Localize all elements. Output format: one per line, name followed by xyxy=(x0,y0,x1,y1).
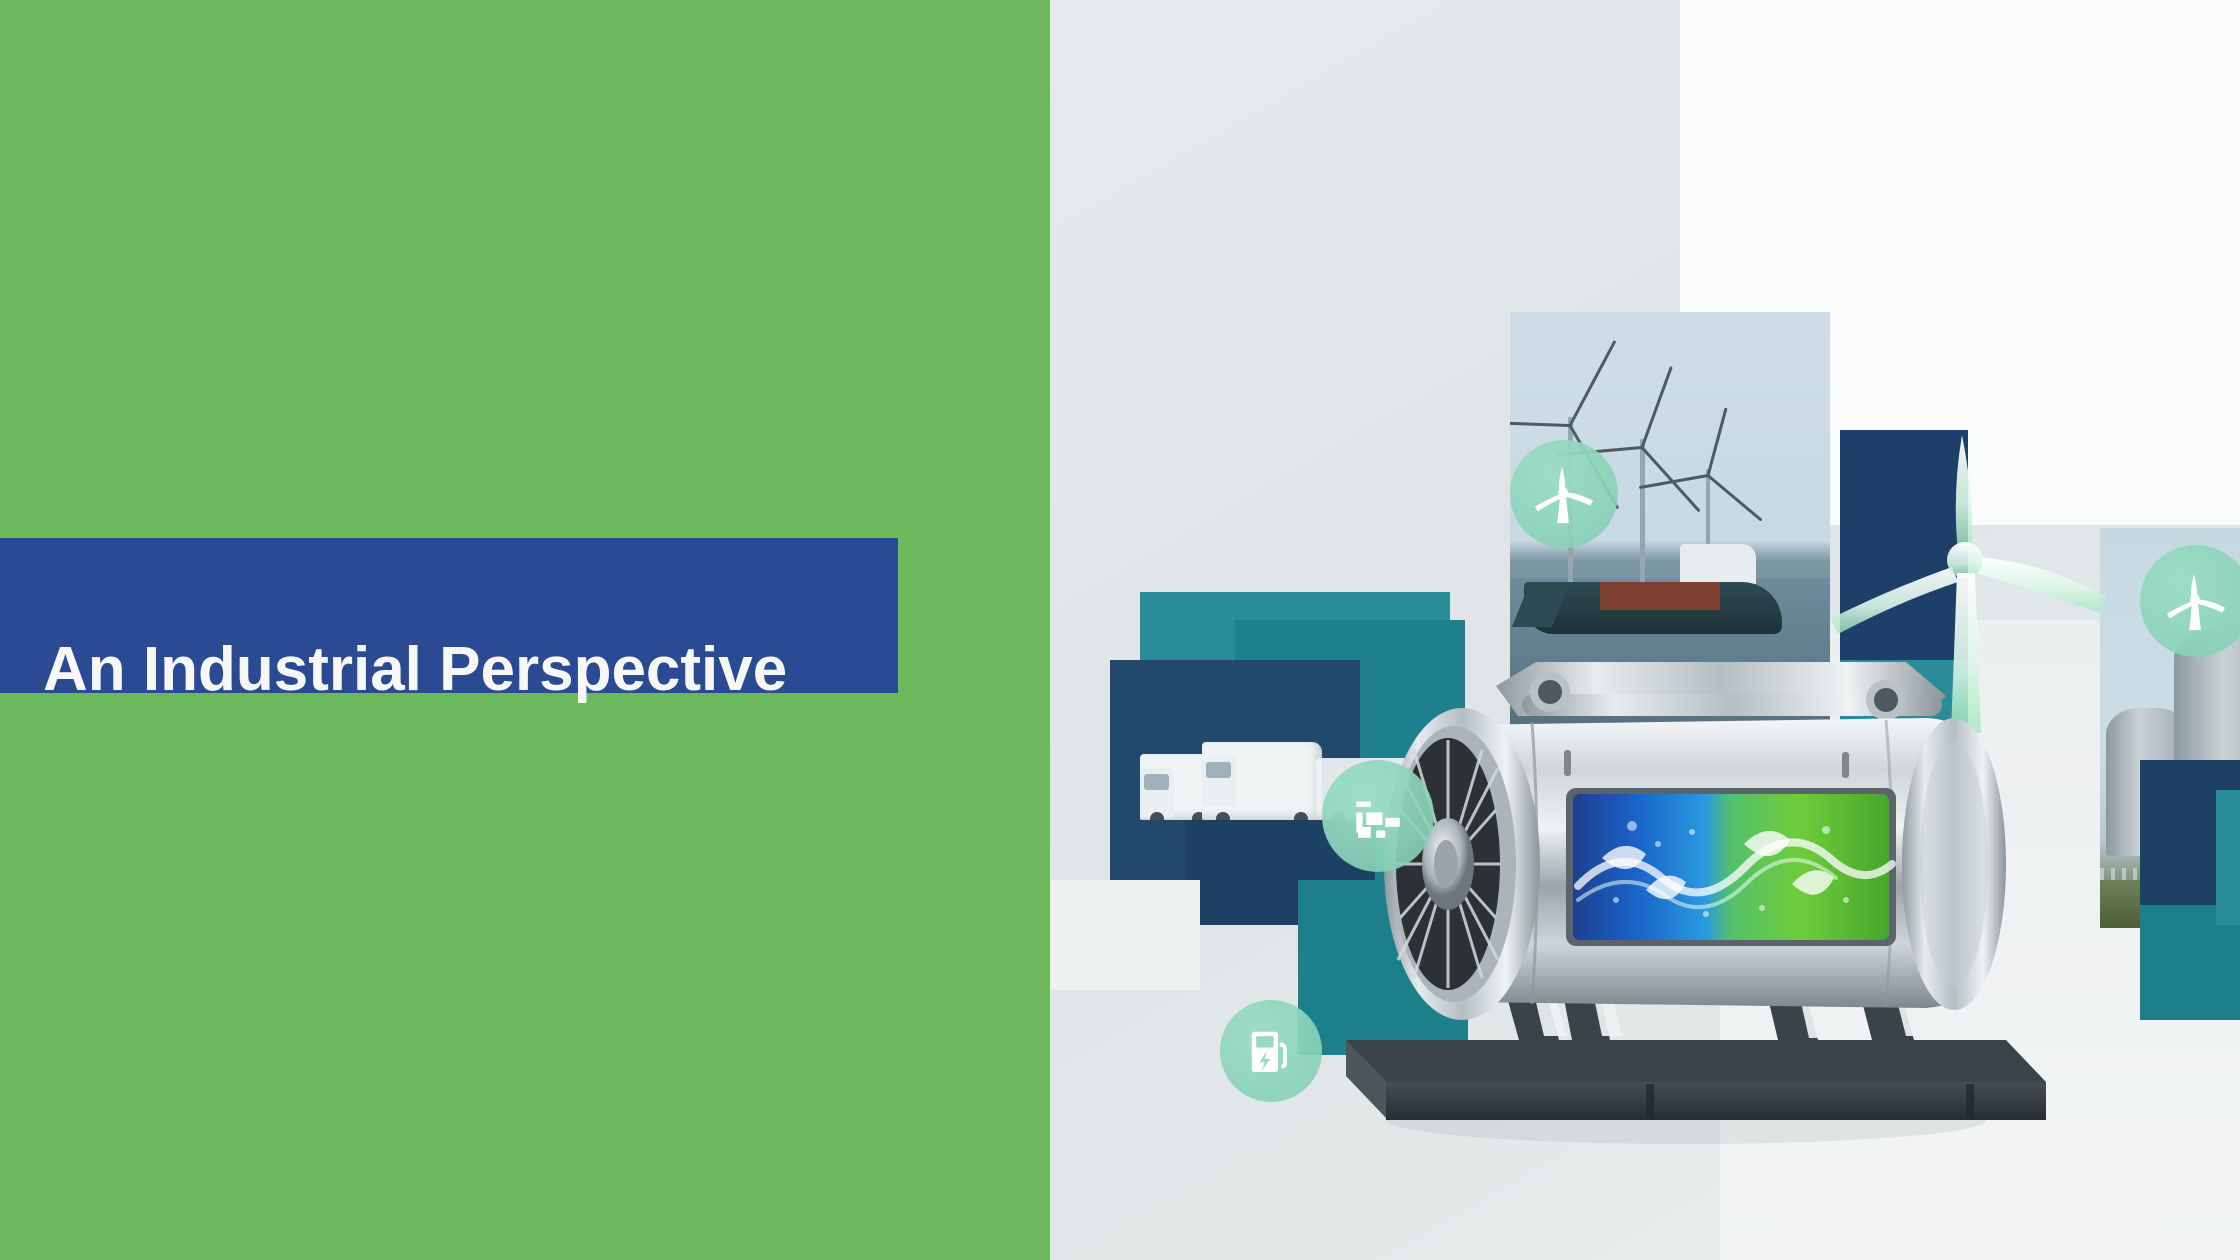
truck-wheel xyxy=(1216,812,1230,820)
badge-wind-right[interactable] xyxy=(2140,545,2240,657)
page-subtitle: An Industrial Perspective xyxy=(43,639,787,701)
turbine-blade xyxy=(1641,366,1673,448)
ev-fuel-pump-icon xyxy=(1243,1023,1299,1079)
badge-wind-top[interactable] xyxy=(1510,440,1618,548)
truck-wheel xyxy=(1150,812,1164,820)
ship-superstructure xyxy=(1680,544,1756,584)
turbine-blade xyxy=(1569,340,1617,426)
collage-block-white-a xyxy=(1050,880,1200,990)
machine-base xyxy=(1346,1040,2046,1120)
wind-turbine-icon xyxy=(1533,463,1595,525)
badge-fuel-pump-left[interactable] xyxy=(1220,1000,1322,1102)
biofuel-generator-unit xyxy=(1286,600,2086,1160)
hero-banner: BIOFUEL +PLUS What Is Biofuel? An Indust… xyxy=(0,0,2240,1260)
industry-plant-icon xyxy=(1349,787,1407,845)
truck-windshield xyxy=(1206,762,1231,778)
illustration-panel: BIOFUEL +PLUS xyxy=(1050,0,2240,1260)
turbine-blade xyxy=(1707,474,1763,521)
truck-windshield xyxy=(1144,774,1169,790)
badge-factory-left[interactable] xyxy=(1322,760,1434,872)
wind-turbine-icon xyxy=(2165,570,2227,632)
turbine-blade xyxy=(1510,421,1570,427)
machine-top-manifold xyxy=(1496,662,1946,720)
machine-fan-assembly xyxy=(1384,708,1540,1020)
fuel-window xyxy=(1566,788,1896,946)
collage-block-teal-f xyxy=(2216,790,2240,925)
turbine-blade xyxy=(1707,407,1728,475)
turbine-blade xyxy=(1639,474,1708,489)
